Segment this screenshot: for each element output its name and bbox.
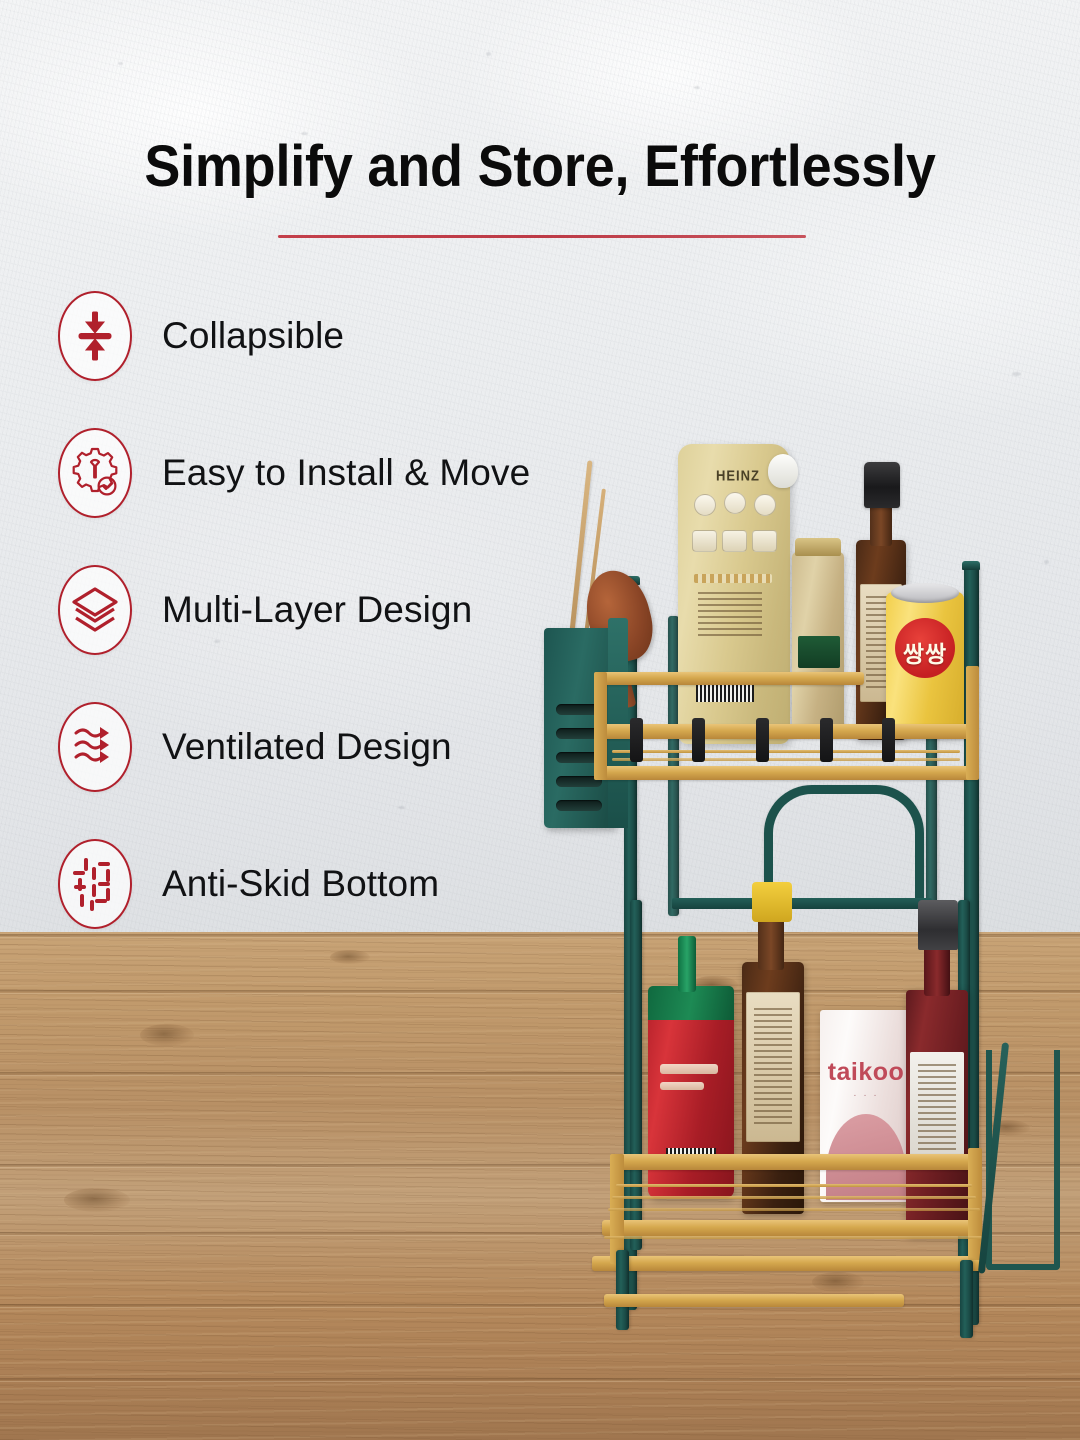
- basket-wire: [612, 750, 960, 753]
- basket-side-right: [968, 1148, 982, 1260]
- pouch-colorbar: [694, 574, 772, 583]
- basket-wire: [612, 1196, 976, 1199]
- korean-drink-can: 쌍쌍: [886, 592, 964, 738]
- bottle-cap: [864, 462, 900, 508]
- bottle-label-text: [754, 1008, 792, 1128]
- plank-seam: [0, 1378, 1080, 1381]
- pouch-icon: [694, 494, 716, 516]
- page-title: Simplify and Store, Effortlessly: [38, 133, 1042, 200]
- bottle-clip: [882, 718, 895, 762]
- bottle-neck: [758, 916, 784, 970]
- heinz-brand-text: HEINZ: [716, 467, 760, 484]
- basket-rail-bottom: [592, 1256, 984, 1271]
- rack-post-cap: [962, 561, 980, 570]
- feature-label: Multi-Layer Design: [162, 589, 472, 631]
- basket-rail-mid: [596, 766, 978, 780]
- airflow-waves-icon: [58, 702, 132, 792]
- vinegar-bottle: [906, 990, 968, 1236]
- bottle-cap-yellow: [752, 882, 792, 922]
- jar-lid: [795, 538, 841, 556]
- bottle-cap: [918, 900, 958, 950]
- wood-knot: [64, 1188, 130, 1212]
- gear-wrench-check-icon: [58, 428, 132, 518]
- pouch-icon: [754, 494, 776, 516]
- pouch-food-photo: [722, 530, 747, 552]
- bottle-clip: [630, 718, 643, 762]
- pouch-spout: [678, 936, 696, 992]
- pouch-cap: [768, 454, 798, 488]
- sugar-subtext: · · ·: [820, 1090, 912, 1101]
- pouch-food-photo: [752, 530, 777, 552]
- basket-rail-back: [596, 672, 864, 685]
- sugar-carton: taikoo · · ·: [820, 1010, 912, 1202]
- rack-foot-right: [960, 1260, 973, 1338]
- rack-foot-left: [616, 1250, 629, 1330]
- pouch-nutrition-text: [698, 592, 762, 638]
- wood-knot: [140, 1024, 194, 1046]
- feature-item-collapsible: Collapsible: [58, 288, 578, 384]
- pouch-label-line: [660, 1082, 704, 1090]
- dashed-grid-icon: [58, 839, 132, 929]
- spice-jar: [792, 552, 844, 732]
- feature-list: Collapsible Easy to Install & Move: [58, 288, 578, 932]
- basket-wire: [616, 1184, 972, 1187]
- basket-wire: [608, 1208, 980, 1211]
- rack-crossbar: [672, 898, 932, 909]
- pouch-label-line: [660, 1064, 718, 1074]
- feature-item-easy-install: Easy to Install & Move: [58, 425, 578, 521]
- basket-rail-top: [612, 1154, 978, 1170]
- can-logo-circle: 쌍쌍: [895, 618, 955, 678]
- title-divider: [278, 235, 806, 238]
- bottle-neck: [924, 942, 950, 996]
- bottle-clip: [820, 718, 833, 762]
- product-rack: HEINZ 쌍쌍: [520, 430, 1080, 1330]
- basket-wire: [604, 1236, 982, 1239]
- feature-label: Easy to Install & Move: [162, 452, 530, 494]
- bottle-clip: [692, 718, 705, 762]
- feature-label: Anti-Skid Bottom: [162, 863, 439, 905]
- stacked-layers-icon: [58, 565, 132, 655]
- caddy-back-plate: [608, 618, 628, 828]
- feature-item-anti-skid: Anti-Skid Bottom: [58, 836, 578, 932]
- can-lid: [891, 583, 959, 603]
- soy-sauce-bottle-tall: [742, 962, 804, 1214]
- heinz-sauce-pouch: HEINZ: [678, 444, 790, 744]
- caddy-drain-slot: [556, 800, 602, 811]
- basket-side-left: [594, 672, 607, 780]
- basket-rail-mid: [602, 1220, 982, 1236]
- jar-label: [798, 636, 840, 668]
- collapse-arrows-icon: [58, 291, 132, 381]
- feature-label: Collapsible: [162, 315, 344, 357]
- rack-bottom-brace: [604, 1294, 904, 1307]
- bottle-clip: [756, 718, 769, 762]
- feature-item-ventilated: Ventilated Design: [58, 699, 578, 795]
- feature-item-multi-layer: Multi-Layer Design: [58, 562, 578, 658]
- wood-knot: [330, 950, 370, 964]
- pouch-food-photo: [692, 530, 717, 552]
- bottle-label-text: [918, 1064, 956, 1154]
- basket-wire: [612, 758, 960, 761]
- can-brand-text: 쌍쌍: [895, 635, 955, 669]
- pouch-icon: [724, 492, 746, 514]
- basket-rail-top: [596, 724, 978, 739]
- basket-side-right: [966, 666, 979, 780]
- sugar-brand-text: taikoo: [820, 1058, 912, 1087]
- feature-label: Ventilated Design: [162, 726, 452, 768]
